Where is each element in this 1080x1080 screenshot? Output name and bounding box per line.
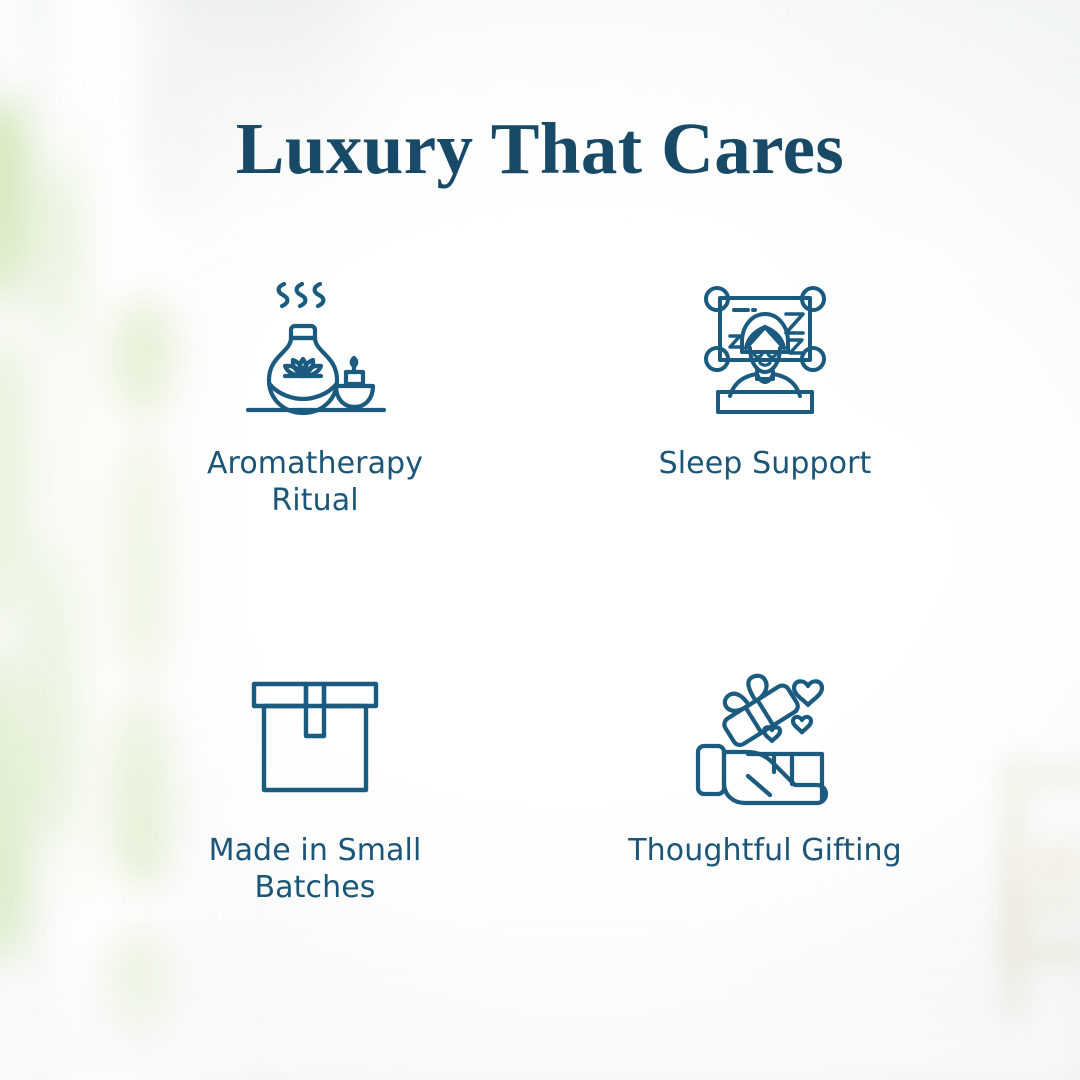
aromatherapy-diffuser-icon [230, 270, 400, 420]
feature-item-gifting: Thoughtful Gifting [540, 667, 990, 906]
promo-graphic-canvas: Luxury That Cares [0, 0, 1080, 1080]
feature-label-sleep: Sleep Support [659, 446, 872, 483]
sleeping-person-pillow-icon [680, 270, 850, 420]
feature-item-small-batches: Made in Small Batches [90, 667, 540, 906]
box-crate-icon [230, 667, 400, 807]
hand-holding-gift-icon [680, 667, 850, 807]
page-title: Luxury That Cares [0, 112, 1080, 185]
feature-item-sleep: Sleep Support [540, 270, 990, 519]
feature-grid: Aromatherapy Ritual [90, 270, 990, 906]
feature-label-small-batches: Made in Small Batches [165, 833, 465, 906]
content-layer: Luxury That Cares [0, 0, 1080, 1080]
feature-label-gifting: Thoughtful Gifting [628, 833, 902, 870]
feature-label-aromatherapy: Aromatherapy Ritual [165, 446, 465, 519]
feature-item-aromatherapy: Aromatherapy Ritual [90, 270, 540, 519]
